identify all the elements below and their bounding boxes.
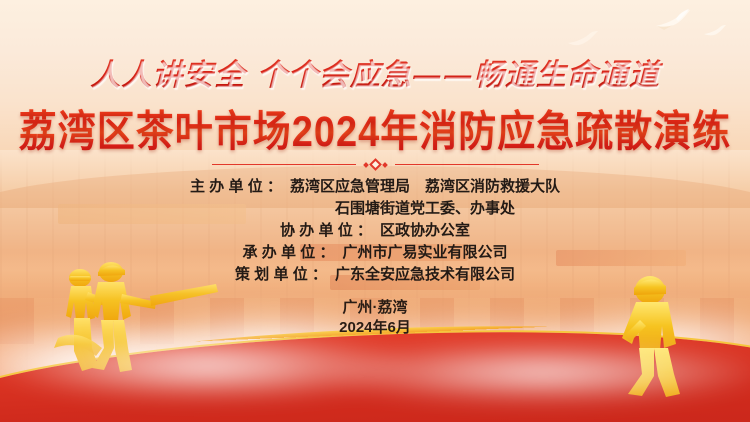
- poster-main-title: 荔湾区茶叶市场2024年消防应急疏散演练: [0, 97, 750, 159]
- poster-tagline: 人人讲安全 个个会应急——畅通生命通道: [0, 50, 750, 94]
- organizer-value: 区政协办公室: [380, 220, 470, 242]
- organizer-row: 承办单位： 广州市广易实业有限公司: [0, 242, 750, 264]
- organizer-row: 协办单位： 区政协办公室: [0, 220, 750, 242]
- divider-diamond-icon: [369, 158, 382, 171]
- organizer-row: 主办单位： 荔湾区应急管理局 荔湾区消防救援大队: [0, 176, 750, 198]
- place-text: 广州·荔湾: [0, 298, 750, 318]
- place-date-block: 广州·荔湾 2024年6月: [0, 298, 750, 338]
- organizer-value: 广州市广易实业有限公司: [342, 242, 507, 264]
- organizer-row: 主办单位： 石围塘街道党工委、办事处: [0, 198, 750, 220]
- poster-canvas: 人人讲安全 个个会应急——畅通生命通道 荔湾区茶叶市场2024年消防应急疏散演练…: [0, 0, 750, 422]
- organizer-value: 石围塘街道党工委、办事处: [335, 198, 515, 220]
- organizer-label: 策划单位：: [235, 264, 327, 286]
- organizer-label: 承办单位：: [242, 242, 334, 264]
- organizer-label: 主办单位：: [190, 176, 282, 198]
- divider-dot-left: [363, 162, 369, 168]
- organizer-value: 荔湾区应急管理局 荔湾区消防救援大队: [290, 176, 560, 198]
- decorative-divider: [0, 160, 750, 169]
- divider-line-right: [395, 164, 539, 165]
- organizer-value: 广东全安应急技术有限公司: [335, 264, 515, 286]
- divider-line-left: [212, 164, 356, 165]
- date-text: 2024年6月: [0, 318, 750, 338]
- organizer-label: 协办单位：: [280, 220, 372, 242]
- divider-dot-right: [382, 162, 388, 168]
- poster-content: 人人讲安全 个个会应急——畅通生命通道 荔湾区茶叶市场2024年消防应急疏散演练…: [0, 0, 750, 422]
- divider-ornament: [364, 160, 387, 169]
- organizer-block: 主办单位： 荔湾区应急管理局 荔湾区消防救援大队 主办单位： 石围塘街道党工委、…: [0, 176, 750, 286]
- organizer-row: 策划单位： 广东全安应急技术有限公司: [0, 264, 750, 286]
